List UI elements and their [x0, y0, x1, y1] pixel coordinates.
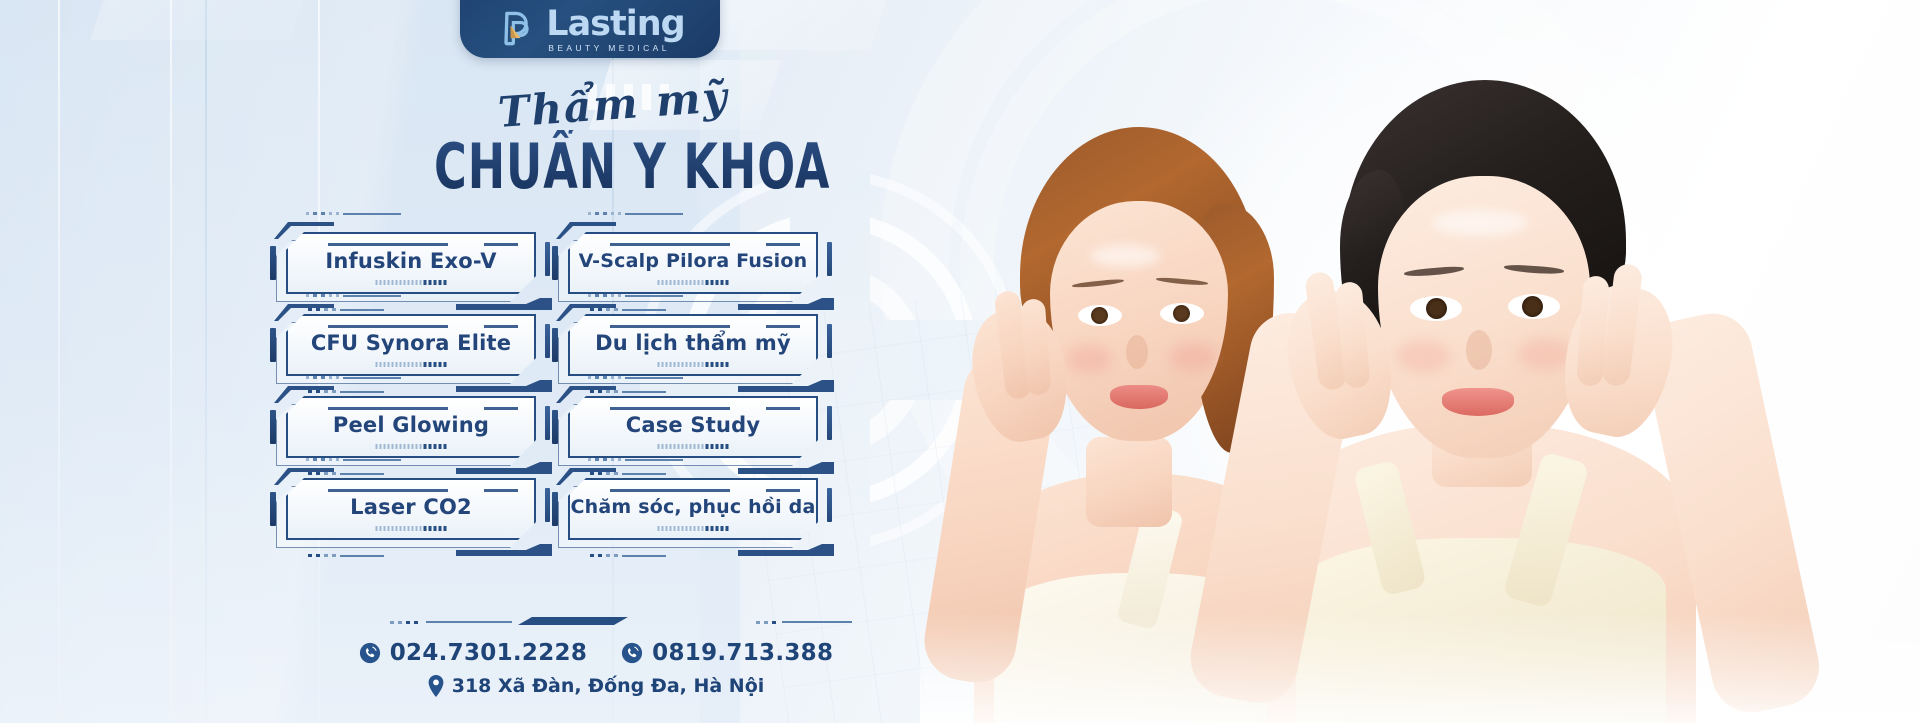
phone-call-icon — [621, 642, 643, 664]
contact-block: 024.7301.2228 0819.713.388 — [286, 640, 906, 697]
phone-secondary[interactable]: 0819.713.388 — [621, 640, 833, 666]
model-right — [1236, 0, 1756, 723]
background-vline — [170, 0, 172, 723]
service-button-cham-soc-phuc-hoi-da[interactable]: Chăm sóc, phục hồi da — [568, 478, 818, 540]
service-button-cfu-synora-elite[interactable]: CFU Synora Elite — [286, 314, 536, 376]
address-row[interactable]: 318 Xã Đàn, Đống Đa, Hà Nội — [286, 675, 906, 697]
beauty-clinic-banner: Lasting BEAUTY MEDICAL Thẩm mỹ CHUẨN Y K… — [0, 0, 1920, 723]
service-button-case-study[interactable]: Case Study — [568, 396, 818, 458]
service-label: Infuskin Exo-V — [317, 249, 504, 273]
logo-tagline: BEAUTY MEDICAL — [548, 44, 684, 53]
service-button-laser-co2[interactable]: Laser CO2 — [286, 478, 536, 540]
background-vline — [58, 0, 60, 723]
phone-number: 024.7301.2228 — [390, 640, 587, 666]
page-title: CHUẨN Y KHOA — [434, 130, 830, 203]
service-button-infuskin-exo-v[interactable]: Infuskin Exo-V — [286, 232, 536, 294]
address-text: 318 Xã Đàn, Đống Đa, Hà Nội — [452, 675, 765, 697]
service-label: CFU Synora Elite — [303, 331, 519, 355]
phone-call-icon — [359, 642, 381, 664]
model-photography — [920, 0, 1920, 723]
lasting-b-heart-mark-icon — [495, 7, 539, 51]
service-label: Laser CO2 — [342, 495, 480, 519]
logo-wordmark: Lasting — [546, 7, 684, 42]
background-panel — [90, 0, 309, 40]
phone-primary[interactable]: 024.7301.2228 — [359, 640, 587, 666]
service-button-du-lich-tham-my[interactable]: Du lịch thẩm mỹ — [568, 314, 818, 376]
service-label: Chăm sóc, phục hồi da — [562, 496, 823, 518]
contact-divider — [286, 616, 906, 630]
background-vline — [205, 0, 207, 723]
service-button-grid: Infuskin Exo-V V-Scalp Pilora Fusion CFU… — [286, 232, 906, 540]
service-label: V-Scalp Pilora Fusion — [571, 250, 816, 272]
phone-number: 0819.713.388 — [652, 640, 833, 666]
service-button-peel-glowing[interactable]: Peel Glowing — [286, 396, 536, 458]
service-button-v-scalp-pilora-fusion[interactable]: V-Scalp Pilora Fusion — [568, 232, 818, 294]
brand-logo[interactable]: Lasting BEAUTY MEDICAL — [460, 0, 720, 58]
service-label: Peel Glowing — [325, 413, 497, 437]
location-pin-icon — [428, 675, 444, 697]
service-label: Case Study — [618, 413, 768, 437]
service-label: Du lịch thẩm mỹ — [587, 331, 799, 355]
